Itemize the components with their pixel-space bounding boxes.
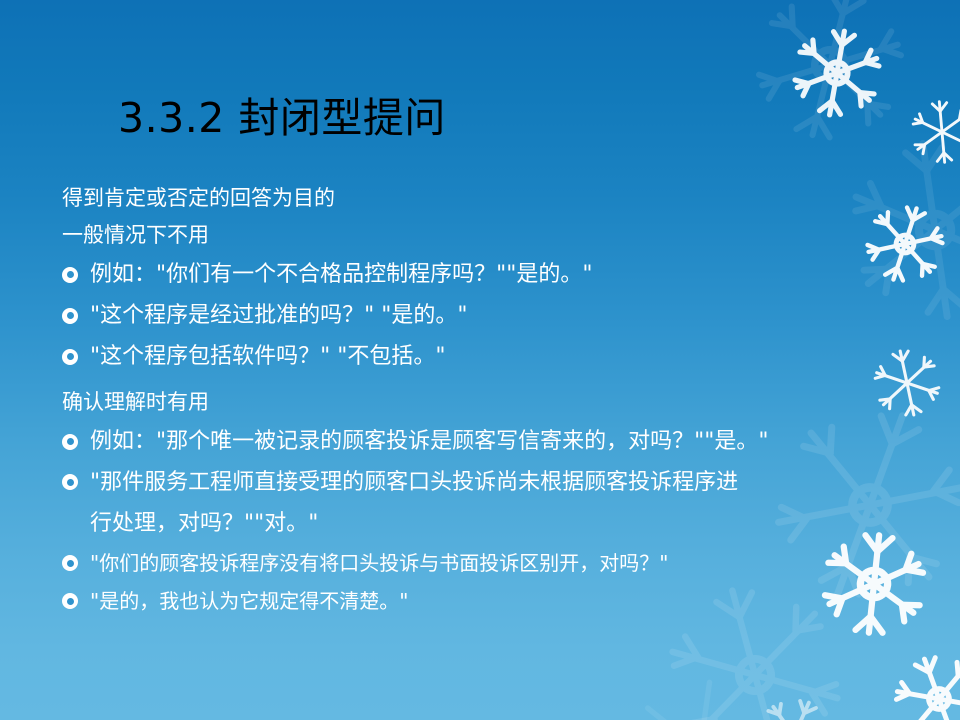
list-item-text: "这个程序是经过批准的吗？" "是的。" xyxy=(90,295,960,336)
list-item: "你们的顾客投诉程序没有将口头投诉与书面投诉区别开，对吗？" xyxy=(0,544,960,582)
ring-dot-bullet-icon xyxy=(62,349,78,365)
list-item-text: "那件服务工程师直接受理的顾客口头投诉尚未根据顾客投诉程序进行处理，对吗？""对… xyxy=(90,462,760,544)
snowflake-icon xyxy=(769,5,906,142)
ring-dot-bullet-icon xyxy=(62,434,78,450)
list-item: "这个程序包括软件吗？" "不包括。" xyxy=(0,336,960,377)
section-heading-2: 确认理解时有用 xyxy=(0,384,960,421)
ring-dot-bullet-icon xyxy=(62,593,78,609)
snowflake-icon xyxy=(863,623,960,720)
list-item: "那件服务工程师直接受理的顾客口头投诉尚未根据顾客投诉程序进行处理，对吗？""对… xyxy=(0,462,960,544)
slide-title: 3.3.2 封闭型提问 xyxy=(118,92,446,144)
intro-line-2: 一般情况下不用 xyxy=(0,217,960,254)
ring-dot-bullet-icon xyxy=(62,555,78,571)
list-item: "是的，我也认为它规定得不清楚。" xyxy=(0,582,960,620)
snowflake-icon xyxy=(899,89,960,176)
snowflake-icon xyxy=(598,648,801,720)
intro-line-1: 得到肯定或否定的回答为目的 xyxy=(0,180,960,217)
snowflake-icon xyxy=(731,673,858,720)
list-item: "这个程序是经过批准的吗？" "是的。" xyxy=(0,295,960,336)
ring-dot-bullet-icon xyxy=(62,308,78,324)
list-item: 例如："那个唯一被记录的顾客投诉是顾客写信寄来的，对吗？""是。" xyxy=(0,421,960,462)
section-spacer xyxy=(0,377,960,384)
snowflake-icon xyxy=(715,0,945,180)
list-item-text: 例如："你们有一个不合格品控制程序吗？""是的。" xyxy=(90,254,960,295)
list-item-text: "是的，我也认为它规定得不清楚。" xyxy=(90,582,960,620)
list-item-text: 例如："那个唯一被记录的顾客投诉是顾客写信寄来的，对吗？""是。" xyxy=(90,421,960,462)
list-item-text: "你们的顾客投诉程序没有将口头投诉与书面投诉区别开，对吗？" xyxy=(90,544,960,582)
ring-dot-bullet-icon xyxy=(62,474,78,490)
list-item: 例如："你们有一个不合格品控制程序吗？""是的。" xyxy=(0,254,960,295)
list-item-text: "这个程序包括软件吗？" "不包括。" xyxy=(90,336,960,377)
slide-body: 得到肯定或否定的回答为目的 一般情况下不用 例如："你们有一个不合格品控制程序吗… xyxy=(0,180,960,620)
slide-canvas: 3.3.2 封闭型提问 得到肯定或否定的回答为目的 一般情况下不用 例如："你们… xyxy=(0,0,960,720)
ring-dot-bullet-icon xyxy=(62,267,78,283)
